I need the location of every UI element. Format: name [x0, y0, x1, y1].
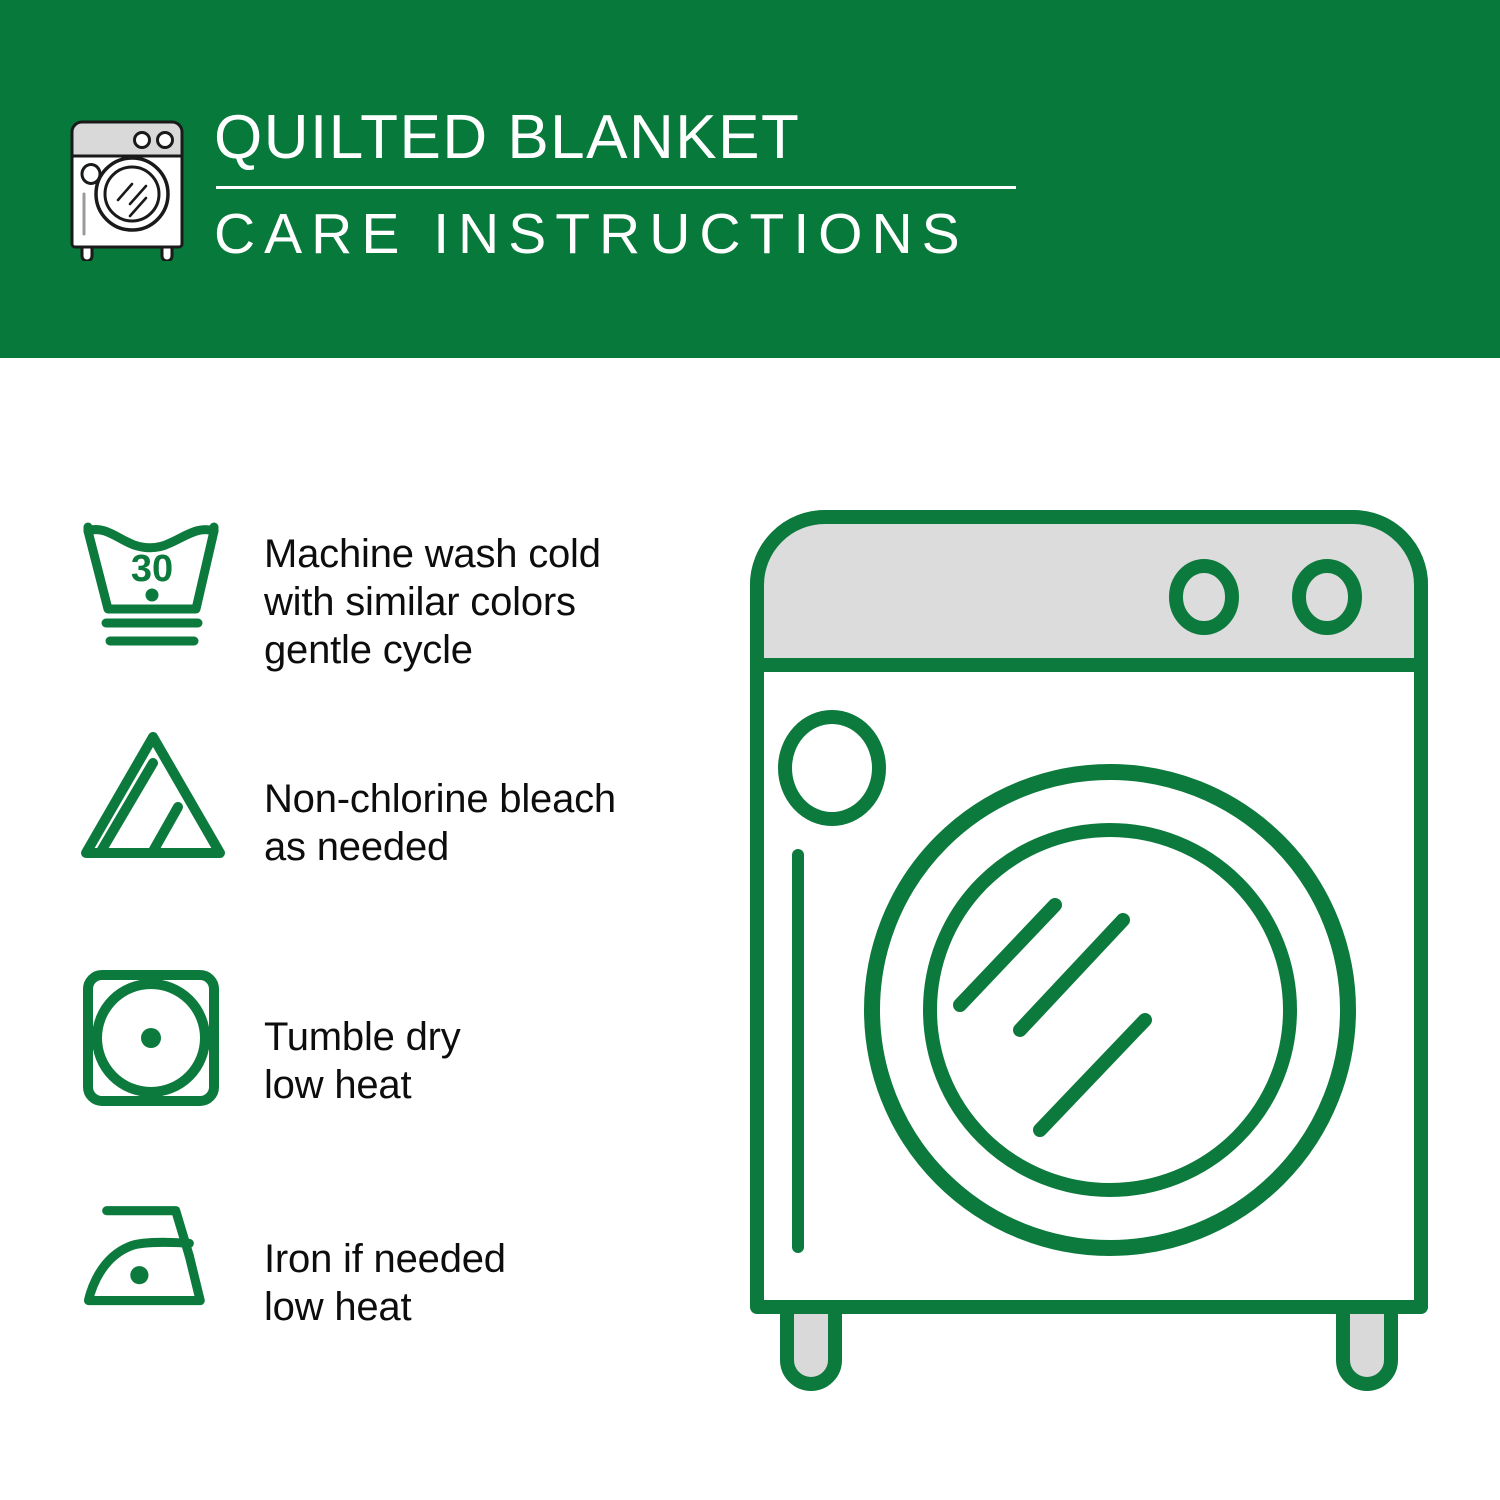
wash-temperature-label: 30	[131, 548, 173, 590]
leg-right	[1343, 1305, 1391, 1384]
care-instruction-list: 30 Machine wash cold with similar colors…	[74, 505, 714, 1387]
knob-right	[1299, 566, 1355, 628]
washing-machine-icon	[62, 96, 192, 261]
care-instructions-page: QUILTED BLANKET CARE INSTRUCTIONS	[0, 0, 1500, 1500]
care-label-tumble-dry: Tumble dry low heat	[264, 965, 461, 1109]
header-content: QUILTED BLANKET CARE INSTRUCTIONS	[62, 96, 1016, 265]
page-title: QUILTED BLANKET	[214, 102, 1016, 174]
knob-left	[1176, 566, 1232, 628]
care-label-machine-wash: Machine wash cold with similar colors ge…	[264, 505, 601, 674]
care-row-tumble-dry: Tumble dry low heat	[74, 965, 714, 1187]
header-banner: QUILTED BLANKET CARE INSTRUCTIONS	[0, 0, 1500, 358]
detergent-dispenser	[785, 717, 879, 819]
non-chlorine-bleach-triangle-icon	[74, 723, 242, 891]
care-label-iron: Iron if needed low heat	[264, 1187, 506, 1331]
door-inner-ring	[930, 830, 1290, 1190]
tumble-dry-low-heat-icon	[74, 965, 242, 1133]
wash-tub-30-gentle-icon: 30	[74, 505, 242, 673]
care-row-iron: Iron if needed low heat	[74, 1187, 714, 1387]
title-divider	[216, 186, 1016, 189]
leg-left	[787, 1305, 835, 1384]
page-subtitle: CARE INSTRUCTIONS	[214, 203, 1016, 265]
care-label-bleach: Non-chlorine bleach as needed	[264, 723, 616, 871]
iron-low-heat-icon	[74, 1187, 242, 1355]
care-row-machine-wash: 30 Machine wash cold with similar colors…	[74, 505, 714, 723]
title-block: QUILTED BLANKET CARE INSTRUCTIONS	[214, 96, 1016, 265]
front-load-washing-machine-illustration	[745, 505, 1455, 1410]
care-row-bleach: Non-chlorine bleach as needed	[74, 723, 714, 965]
